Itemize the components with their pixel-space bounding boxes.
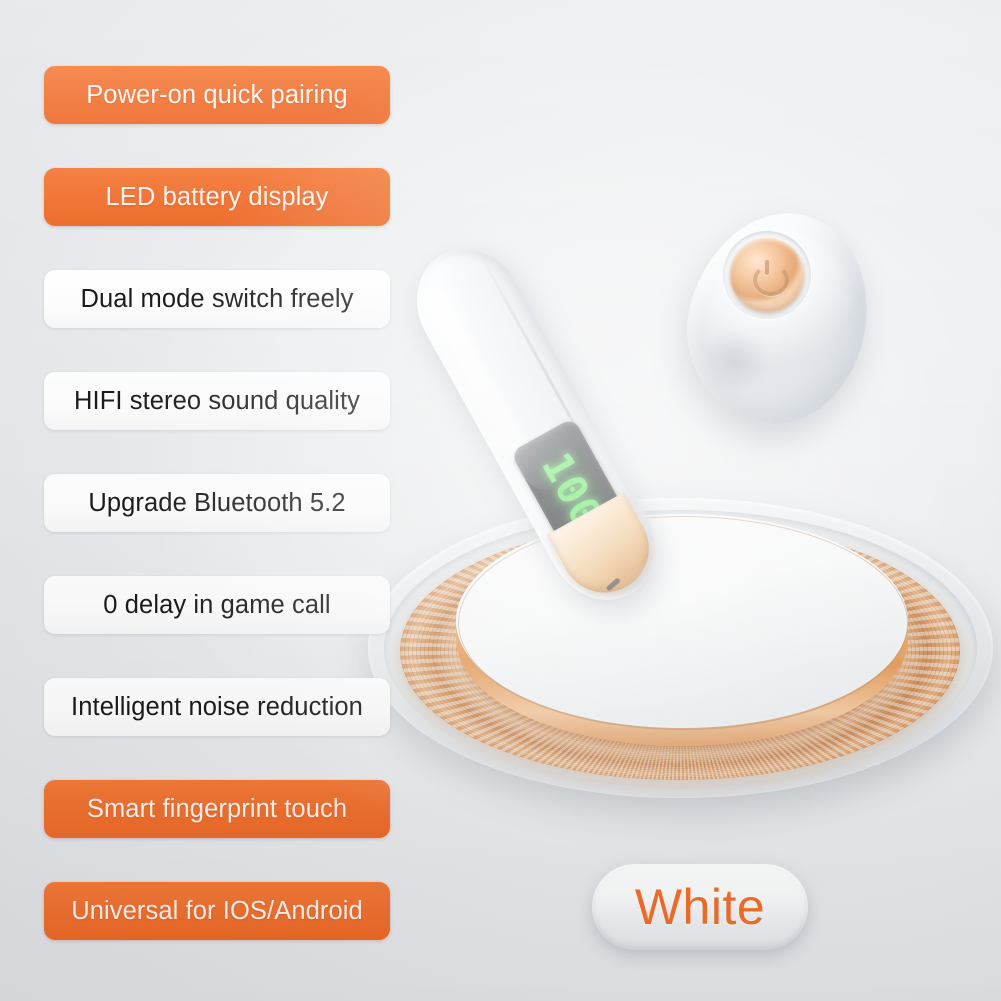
feature-label: Intelligent noise reduction: [71, 693, 363, 722]
feature-pill-0-delay-in-game-call: 0 delay in game call: [44, 576, 390, 634]
feature-pill-power-on-quick-pairing: Power-on quick pairing: [44, 66, 390, 124]
feature-pill-universal-for-ios-android: Universal for IOS/Android: [44, 882, 390, 940]
feature-label: 0 delay in game call: [103, 591, 330, 620]
feature-pill-smart-fingerprint-touch: Smart fingerprint touch: [44, 780, 390, 838]
feature-label: Upgrade Bluetooth 5.2: [88, 489, 345, 518]
product-feature-graphic: 100 Power-on quick pairing LED battery d…: [0, 0, 1001, 1001]
feature-label: Universal for IOS/Android: [71, 897, 363, 926]
earbud-ear-tip-bulb: [664, 192, 892, 444]
wireless-earbud: 100: [500, 196, 920, 646]
feature-label: HIFI stereo sound quality: [74, 387, 360, 416]
color-variant-badge: White: [592, 864, 808, 950]
feature-label: LED battery display: [105, 183, 328, 212]
feature-label: Power-on quick pairing: [86, 81, 348, 110]
feature-label: Dual mode switch freely: [81, 285, 354, 314]
microphone-port-icon: [606, 577, 621, 591]
feature-pill-hifi-stereo-sound-quality: HIFI stereo sound quality: [44, 372, 390, 430]
feature-pill-dual-mode-switch-freely: Dual mode switch freely: [44, 270, 390, 328]
earbud-contact-shadow: [686, 316, 782, 406]
feature-label: Smart fingerprint touch: [87, 795, 347, 824]
feature-pill-upgrade-bluetooth-52: Upgrade Bluetooth 5.2: [44, 474, 390, 532]
power-icon: [750, 258, 784, 292]
feature-pill-intelligent-noise-reduction: Intelligent noise reduction: [44, 678, 390, 736]
color-variant-label: White: [635, 878, 765, 936]
power-button[interactable]: [730, 238, 804, 312]
feature-list: Power-on quick pairing LED battery displ…: [44, 66, 392, 940]
feature-pill-led-battery-display: LED battery display: [44, 168, 390, 226]
